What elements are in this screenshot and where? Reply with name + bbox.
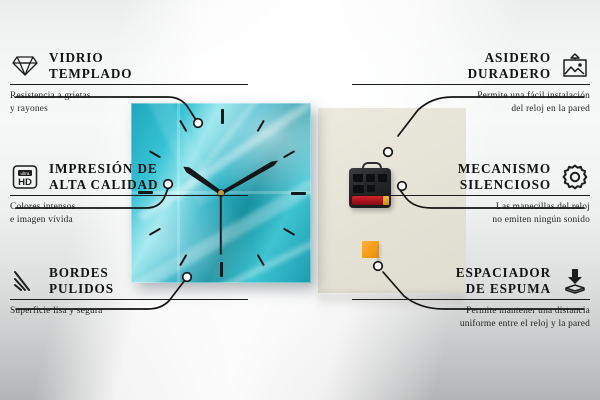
polished-edges-icon <box>10 266 40 296</box>
feature-bordes-pulidos[interactable]: BORDES PULIDOS Superficie lisa y segura <box>10 265 248 318</box>
diamond-icon <box>10 51 40 81</box>
svg-text:HD: HD <box>18 177 32 188</box>
gear-icon <box>560 162 590 192</box>
divider <box>10 299 248 300</box>
feature-header: ultra HD IMPRESIÓN DE ALTA CALIDAD <box>10 161 248 192</box>
ultra-hd-icon: ultra HD <box>10 162 40 192</box>
infographic-canvas: VIDRIO TEMPLADO Resistencia a grietas y … <box>0 0 600 400</box>
clock-tick <box>291 192 306 195</box>
picture-hanger-icon <box>560 51 590 81</box>
feature-mecanismo-silencioso[interactable]: MECANISMO SILENCIOSO Las manecillas del … <box>352 161 590 226</box>
foam-spacer-icon <box>560 266 590 296</box>
feature-description: Las manecillas del reloj no emiten ningú… <box>352 201 590 226</box>
feature-description: Permite una fácil instalación del reloj … <box>352 90 590 115</box>
feature-header: ESPACIADOR DE ESPUMA <box>352 265 590 296</box>
feature-title: IMPRESIÓN DE ALTA CALIDAD <box>49 161 158 192</box>
feature-title: MECANISMO SILENCIOSO <box>458 161 551 192</box>
feature-description: Colores intensos e imagen vívida <box>10 201 248 226</box>
feature-asidero-duradero[interactable]: ASIDERO DURADERO Permite una fácil insta… <box>352 50 590 115</box>
divider <box>352 195 590 196</box>
feature-espaciador-espuma[interactable]: ESPACIADOR DE ESPUMA Permite mantener un… <box>352 265 590 330</box>
feature-header: BORDES PULIDOS <box>10 265 248 296</box>
feature-header: VIDRIO TEMPLADO <box>10 50 248 81</box>
feature-title: VIDRIO TEMPLADO <box>49 50 132 81</box>
divider <box>352 299 590 300</box>
feature-header: ASIDERO DURADERO <box>352 50 590 81</box>
feature-title: ESPACIADOR DE ESPUMA <box>456 265 551 296</box>
divider <box>10 84 248 85</box>
feature-vidrio-templado[interactable]: VIDRIO TEMPLADO Resistencia a grietas y … <box>10 50 248 115</box>
feature-header: MECANISMO SILENCIOSO <box>352 161 590 192</box>
feature-description: Resistencia a grietas y rayones <box>10 90 248 115</box>
clock-tick <box>149 150 161 158</box>
divider <box>10 195 248 196</box>
clock-tick <box>149 228 161 236</box>
clock-tick <box>283 150 295 158</box>
feature-impresion-alta-calidad[interactable]: ultra HD IMPRESIÓN DE ALTA CALIDAD Color… <box>10 161 248 226</box>
clock-tick <box>283 228 295 236</box>
svg-text:ultra: ultra <box>21 170 30 175</box>
feature-title: ASIDERO DURADERO <box>468 50 551 81</box>
feature-description: Superficie lisa y segura <box>10 305 248 317</box>
feature-description: Permite mantener una distancia uniforme … <box>352 305 590 330</box>
foam-spacer <box>362 241 379 258</box>
feature-title: BORDES PULIDOS <box>49 265 114 296</box>
divider <box>352 84 590 85</box>
